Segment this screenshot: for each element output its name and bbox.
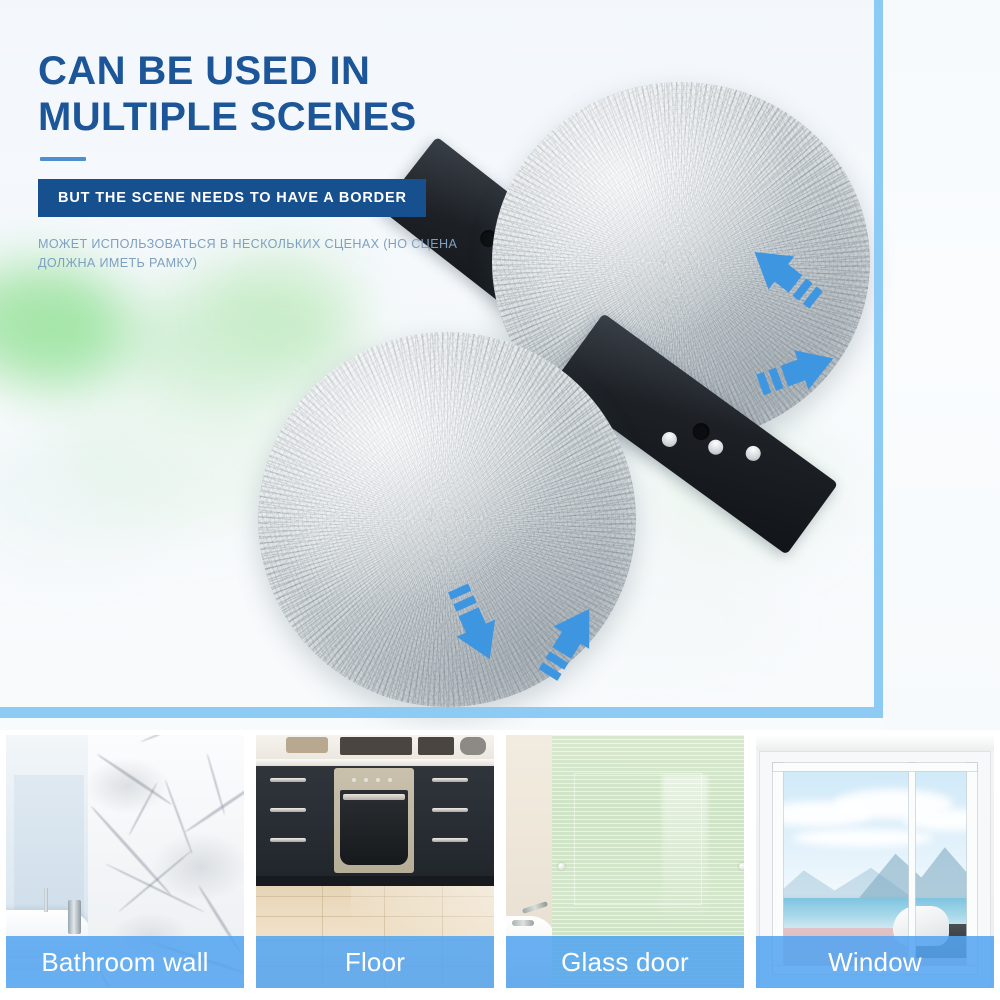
bracket-stud-icon	[659, 429, 680, 450]
oven-knob-icon	[364, 778, 368, 782]
door-handle-dot-icon	[739, 863, 744, 870]
counter-items	[286, 737, 328, 753]
bracket-hole-icon	[689, 420, 713, 444]
title-divider	[40, 157, 86, 161]
mop-pad-lower	[258, 332, 636, 707]
kitchen-countertop	[256, 759, 494, 766]
headline-block: CAN BE USED IN MULTIPLE SCENES BUT THE S…	[38, 48, 508, 273]
scene-label: Glass door	[506, 936, 744, 988]
mountain-range	[859, 844, 977, 898]
cabinet-handle	[270, 778, 306, 782]
scene-label: Window	[756, 936, 994, 988]
bracket-stud-icon	[743, 443, 764, 464]
counter-items	[418, 737, 454, 755]
scene-window[interactable]: Window	[756, 735, 994, 988]
pad-fiber-texture	[258, 332, 636, 707]
cabinet-handle	[270, 838, 306, 842]
scene-label: Floor	[256, 936, 494, 988]
door-handle-dot-icon	[558, 863, 565, 870]
frame-line-vertical	[874, 0, 883, 716]
cabinet-handle	[432, 778, 468, 782]
headline-line-1: CAN BE USED IN	[38, 49, 370, 93]
oven-knob-icon	[388, 778, 392, 782]
oven-knob-icon	[352, 778, 356, 782]
subtitle-russian: МОЖЕТ ИСПОЛЬЗОВАТЬСЯ В НЕСКОЛЬКИХ СЦЕНАХ…	[38, 235, 458, 273]
cabinet-handle	[432, 838, 468, 842]
pad-shading	[258, 332, 636, 707]
cabinet-plinth	[256, 876, 494, 886]
faucet-icon	[44, 888, 48, 912]
window-header	[756, 735, 994, 751]
oven	[334, 768, 414, 873]
frame-line-horizontal	[0, 707, 883, 718]
scene-glass-door[interactable]: Glass door	[506, 735, 744, 988]
bracket-stud-icon	[705, 437, 726, 458]
pad-fiber-texture	[258, 332, 636, 707]
glass-reflection	[662, 775, 708, 915]
counter-items	[340, 737, 412, 755]
window-mullion-top	[773, 763, 977, 771]
scene-bathroom-wall[interactable]: Bathroom wall	[6, 735, 244, 988]
oven-knob-icon	[376, 778, 380, 782]
oven-door-glass	[340, 790, 408, 865]
subheading-badge: BUT THE SCENE NEEDS TO HAVE A BORDER	[38, 179, 426, 217]
scene-label: Bathroom wall	[6, 936, 244, 988]
pad-fiber-texture	[258, 332, 636, 707]
cabinet-handle	[432, 808, 468, 812]
counter-items	[460, 737, 486, 755]
bottle-icon	[68, 900, 81, 934]
oven-handle	[343, 794, 405, 800]
product-feature-banner: CAN BE USED IN MULTIPLE SCENES BUT THE S…	[0, 0, 1000, 1000]
headline-line-2: MULTIPLE SCENES	[38, 95, 417, 139]
scene-thumbnail-strip: Bathroom wall	[0, 730, 1000, 1000]
page-title: CAN BE USED IN MULTIPLE SCENES	[38, 48, 508, 140]
scene-floor[interactable]: Floor	[256, 735, 494, 988]
hero-section: CAN BE USED IN MULTIPLE SCENES BUT THE S…	[0, 0, 1000, 730]
cabinet-handle	[270, 808, 306, 812]
faucet-icon	[512, 920, 534, 926]
pad-fiber-texture	[258, 332, 636, 707]
